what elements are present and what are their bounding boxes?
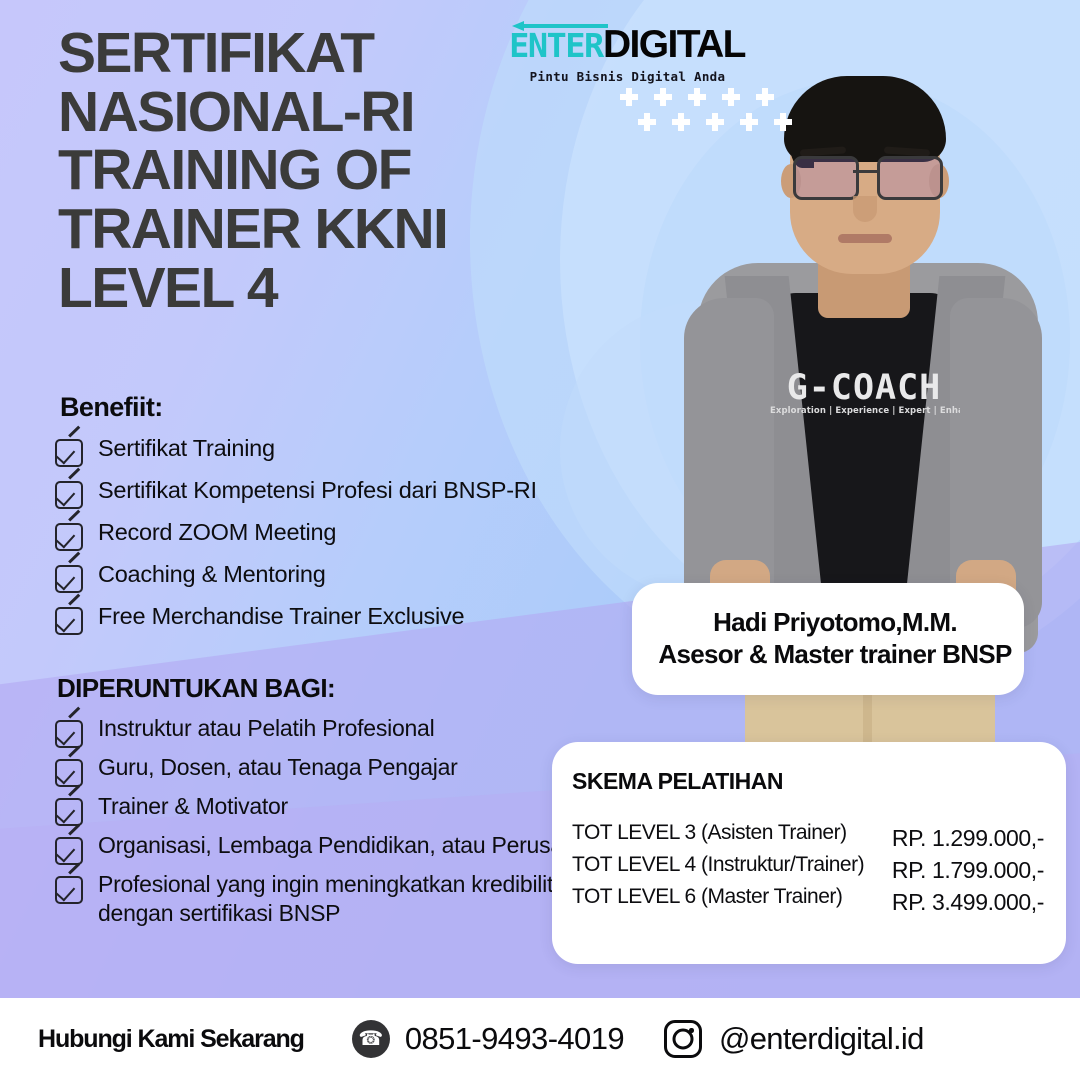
list-item: Instruktur atau Pelatih Profesional: [55, 714, 615, 748]
plus-icon: [672, 113, 690, 131]
instagram-handle: @enterdigital.id: [719, 1021, 924, 1057]
pricing-level-label: TOT LEVEL 3 (Asisten Trainer): [572, 821, 847, 845]
table-row: TOT LEVEL 4 (Instruktur/Trainer) RP. 1.7…: [572, 853, 1044, 884]
speaker-role: Asesor & Master trainer BNSP: [646, 639, 1024, 671]
checkbox-checked-icon: [55, 523, 83, 551]
plus-icon: [638, 113, 656, 131]
list-item: Sertifikat Training: [55, 433, 615, 467]
pricing-amount: RP. 1.799.000,-: [892, 853, 1044, 884]
list-item: Record ZOOM Meeting: [55, 517, 615, 551]
list-item: Free Merchandise Trainer Exclusive: [55, 601, 615, 635]
checkbox-checked-icon: [55, 837, 83, 865]
instagram-contact[interactable]: @enterdigital.id: [664, 1020, 924, 1058]
pricing-card: SKEMA PELATIHAN TOT LEVEL 3 (Asisten Tra…: [552, 742, 1066, 964]
tshirt-subtitle-text: Exploration | Experience | Expert | Enha…: [770, 406, 960, 416]
plus-icon: [722, 88, 740, 106]
table-row: TOT LEVEL 3 (Asisten Trainer) RP. 1.299.…: [572, 821, 1044, 852]
table-row: TOT LEVEL 6 (Master Trainer) RP. 3.499.0…: [572, 885, 1044, 916]
phone-contact[interactable]: ☎ 0851-9493-4019: [352, 1020, 624, 1058]
glasses-icon: [789, 156, 941, 196]
target-item-label: Organisasi, Lembaga Pendidikan, atau Per…: [98, 831, 613, 860]
target-item-label: Guru, Dosen, atau Tenaga Pengajar: [98, 753, 458, 782]
checkbox-checked-icon: [55, 759, 83, 787]
checkbox-checked-icon: [55, 607, 83, 635]
plus-icon: [688, 88, 706, 106]
phone-icon: ☎: [352, 1020, 390, 1058]
promo-poster: ENTER DIGITAL Pintu Bisnis Digital Anda: [0, 0, 1080, 1080]
target-list: Instruktur atau Pelatih Profesional Guru…: [55, 714, 615, 929]
list-item: Sertifikat Kompetensi Profesi dari BNSP-…: [55, 475, 615, 509]
speaker-mouth: [838, 234, 892, 243]
instagram-icon: [664, 1020, 702, 1058]
phone-number: 0851-9493-4019: [405, 1021, 624, 1057]
speaker-name-card: Hadi Priyotomo,M.M. Asesor & Master trai…: [632, 583, 1024, 695]
contact-footer: Hubungi Kami Sekarang ☎ 0851-9493-4019 @…: [0, 998, 1080, 1080]
plus-icon: [620, 88, 638, 106]
benefit-item-label: Coaching & Mentoring: [98, 559, 326, 589]
plus-icon: [740, 113, 758, 131]
pricing-amount: RP. 1.299.000,-: [892, 821, 1044, 852]
benefit-section: Benefiit: Sertifikat Training Sertifikat…: [55, 392, 615, 643]
plus-row-bottom: [638, 113, 792, 131]
list-item: Profesional yang ingin meningkatkan kred…: [55, 870, 615, 929]
benefit-item-label: Sertifikat Kompetensi Profesi dari BNSP-…: [98, 475, 537, 505]
plus-row-top: [620, 88, 792, 106]
pricing-level-label: TOT LEVEL 4 (Instruktur/Trainer): [572, 853, 864, 877]
pricing-table: TOT LEVEL 3 (Asisten Trainer) RP. 1.299.…: [572, 821, 1044, 916]
pricing-heading: SKEMA PELATIHAN: [572, 768, 1044, 795]
target-heading: DIPERUNTUKAN BAGI:: [57, 673, 615, 704]
benefit-item-label: Free Merchandise Trainer Exclusive: [98, 601, 464, 631]
pricing-amount: RP. 3.499.000,-: [892, 885, 1044, 916]
plus-icon: [774, 113, 792, 131]
checkbox-checked-icon: [55, 798, 83, 826]
page-title: SERTIFIKAT NASIONAL-RI TRAINING OF TRAIN…: [58, 24, 578, 318]
benefit-item-label: Sertifikat Training: [98, 433, 275, 463]
list-item: Trainer & Motivator: [55, 792, 615, 826]
target-item-label: Trainer & Motivator: [98, 792, 288, 821]
tshirt-logo-text: G-COACH: [776, 368, 952, 408]
plus-icon: [654, 88, 672, 106]
list-item: Guru, Dosen, atau Tenaga Pengajar: [55, 753, 615, 787]
benefit-item-label: Record ZOOM Meeting: [98, 517, 336, 547]
speaker-name: Hadi Priyotomo,M.M.: [646, 607, 1024, 639]
checkbox-checked-icon: [55, 565, 83, 593]
checkbox-checked-icon: [55, 439, 83, 467]
list-item: Coaching & Mentoring: [55, 559, 615, 593]
checkbox-checked-icon: [55, 876, 83, 904]
target-audience-section: DIPERUNTUKAN BAGI: Instruktur atau Pelat…: [55, 673, 615, 934]
checkbox-checked-icon: [55, 481, 83, 509]
logo-digital-text: DIGITAL: [603, 25, 745, 64]
plus-icon: [706, 113, 724, 131]
checkbox-checked-icon: [55, 720, 83, 748]
plus-decoration-group: [620, 88, 792, 138]
contact-cta-label: Hubungi Kami Sekarang: [38, 1025, 304, 1054]
benefit-list: Sertifikat Training Sertifikat Kompetens…: [55, 433, 615, 635]
speaker-nose: [853, 196, 877, 222]
target-item-label: Instruktur atau Pelatih Profesional: [98, 714, 434, 743]
plus-icon: [756, 88, 774, 106]
target-item-label: Profesional yang ingin meningkatkan kred…: [98, 870, 615, 929]
pricing-level-label: TOT LEVEL 6 (Master Trainer): [572, 885, 842, 909]
benefit-heading: Benefiit:: [60, 392, 615, 423]
list-item: Organisasi, Lembaga Pendidikan, atau Per…: [55, 831, 615, 865]
